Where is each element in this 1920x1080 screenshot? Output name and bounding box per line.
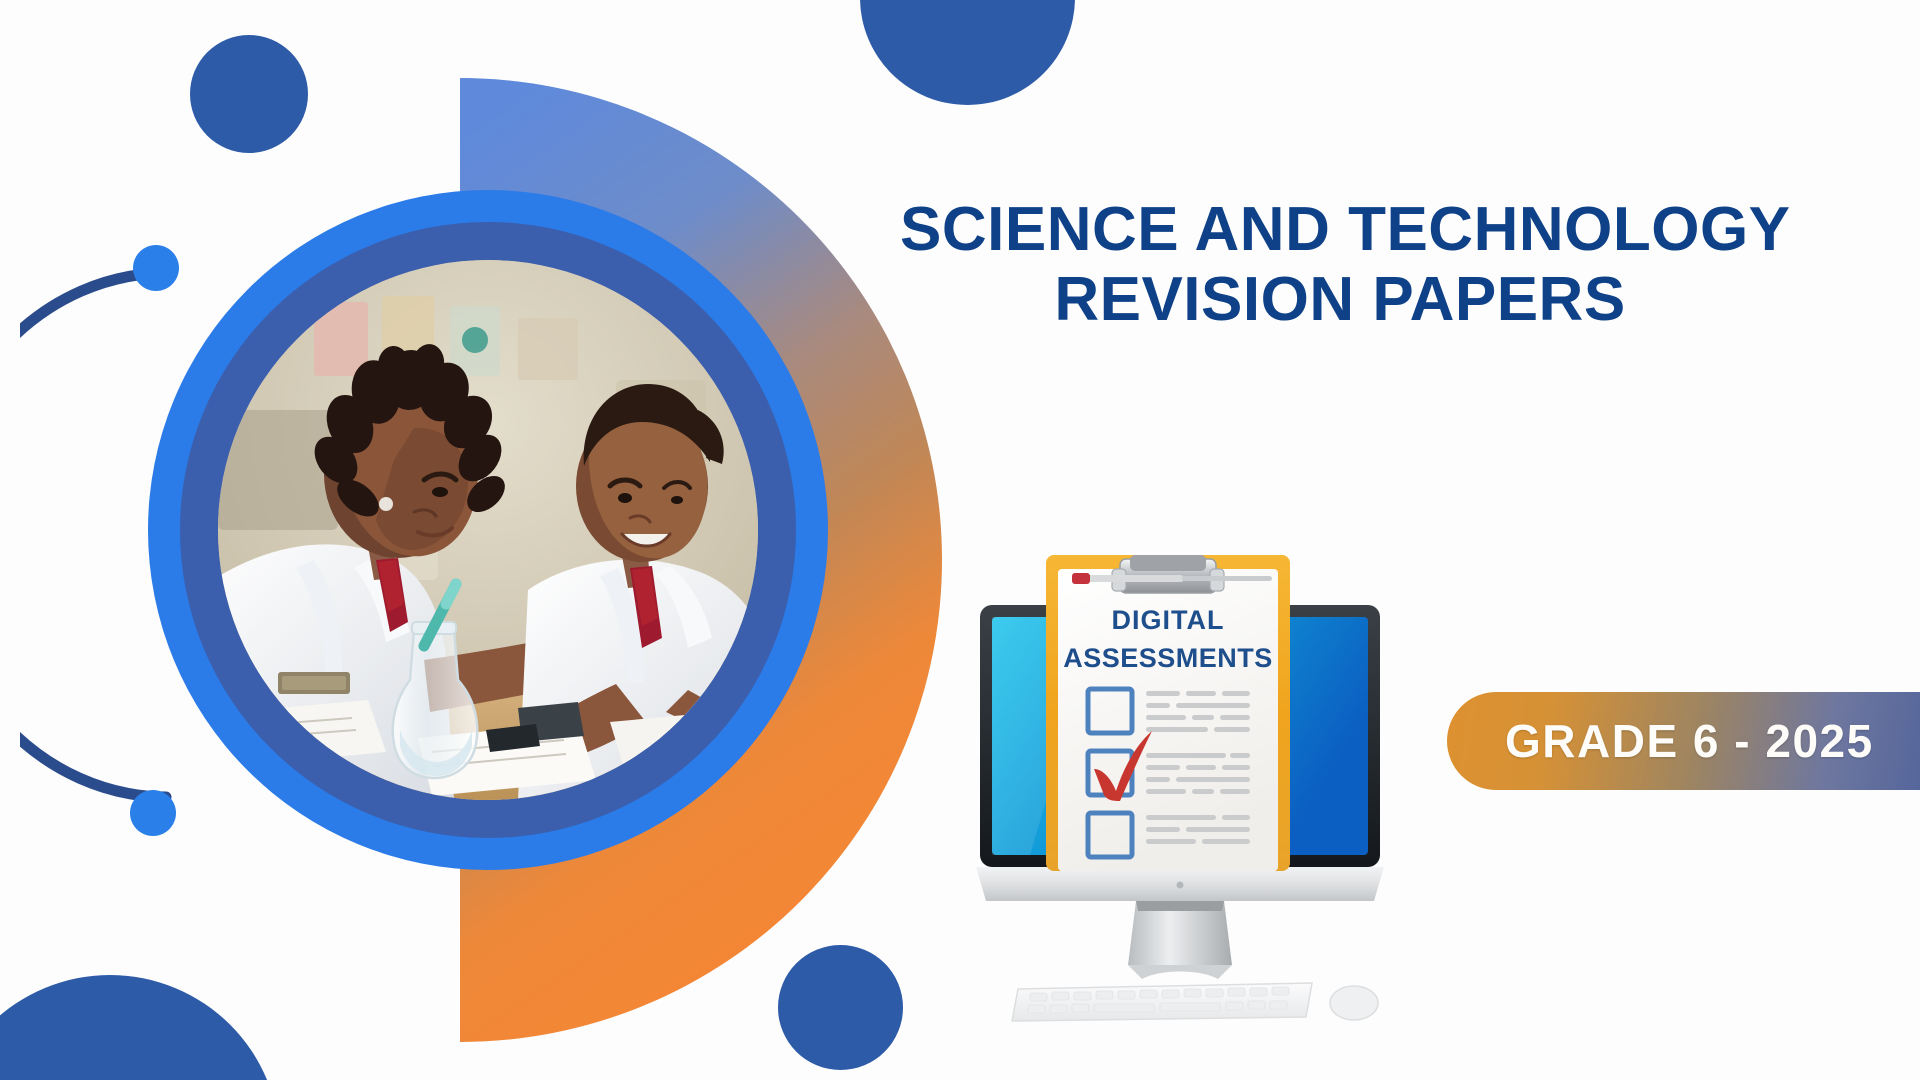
student-lab-photo (218, 260, 758, 800)
page-title-line-1: SCIENCE AND TECHNOLOGY (900, 195, 1780, 265)
banner-canvas: SCIENCE AND TECHNOLOGY REVISION PAPERS (0, 0, 1920, 1080)
grade-badge-label: GRADE 6 - 2025 (1447, 714, 1874, 768)
page-title: SCIENCE AND TECHNOLOGY REVISION PAPERS (900, 195, 1780, 335)
photo-ring-outer (148, 190, 828, 870)
decor-arc-dot-bottom (130, 790, 176, 836)
page-title-line-2: REVISION PAPERS (900, 265, 1780, 335)
student-lab-photo-art (218, 260, 758, 800)
decor-circle-bottom-left (0, 975, 280, 1080)
decor-arc-dot-top (133, 245, 179, 291)
digital-assessment-illustration: DIGITAL ASSESSMENTS (960, 555, 1400, 1025)
clipboard-title-line-1: DIGITAL (1112, 605, 1225, 635)
photo-ring-inner (180, 222, 796, 838)
decor-circle-top-left (190, 35, 308, 153)
grade-badge: GRADE 6 - 2025 (1447, 692, 1920, 790)
clipboard-title-line-2: ASSESSMENTS (1063, 643, 1273, 673)
